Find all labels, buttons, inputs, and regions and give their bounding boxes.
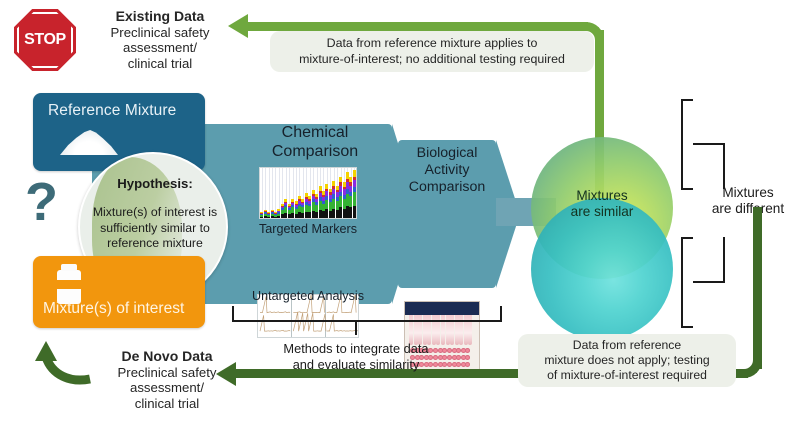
curved-arrow-to-mixture-of-interest [24, 339, 98, 387]
question-mark: ? [25, 175, 58, 229]
chart-gridline [275, 168, 276, 218]
stop-sign-icon: STOP [14, 9, 76, 71]
outcome-similar-line-2: are similar [545, 204, 659, 220]
biological-title-line-3: Comparison [398, 179, 496, 196]
mixture-of-interest-card[interactable]: Mixture(s) of interest [33, 256, 205, 328]
biological-title-line-2: Activity [398, 162, 496, 179]
arrow-head-to-existing-data [228, 14, 248, 38]
chart-gridline [262, 168, 263, 218]
hypothesis-line-3: reference mixture [86, 236, 224, 251]
chemical-title-line-2: Comparison [240, 143, 390, 162]
biological-title-line-1: Biological [398, 145, 496, 162]
bracket-upper-stem-drop [723, 143, 725, 189]
hypothesis-line-2: sufficiently similar to [86, 221, 224, 236]
chart-gridline [269, 168, 270, 218]
targeted-markers-caption: Targeted Markers [236, 222, 380, 236]
callout-mixtures-similar: Data from reference mixture applies to m… [270, 31, 594, 72]
callout-different-line-2: mixture does not apply; testing [544, 353, 709, 368]
existing-data-line-3: clinical trial [80, 56, 240, 72]
biological-comparison-title: Biological Activity Comparison [398, 145, 496, 195]
methods-note-line-2: and evaluate similarity [265, 357, 447, 373]
spectra-trace [260, 315, 290, 331]
chart-bar [353, 170, 356, 218]
existing-data-line-1: Preclinical safety [80, 25, 240, 41]
untargeted-analysis-caption: Untargeted Analysis [232, 289, 384, 303]
callout-similar-line-1: Data from reference mixture applies to [299, 36, 565, 51]
pipe-similar-horizontal [248, 22, 588, 31]
de-novo-data-line-3: clinical trial [92, 396, 242, 412]
de-novo-data-line-2: assessment/ [92, 380, 242, 396]
bracket-lower-stem-rise [723, 237, 725, 283]
pipette-head [405, 302, 479, 315]
callout-mixtures-different: Data from reference mixture does not app… [518, 334, 736, 387]
callout-different-line-1: Data from reference [544, 338, 709, 353]
outcome-different-label: Mixtures are different [700, 185, 796, 218]
de-novo-data-line-1: Preclinical safety [92, 365, 242, 381]
pipe-different-vertical [753, 207, 762, 369]
diagram-canvas: STOP Existing Data Preclinical safety as… [0, 0, 800, 427]
targeted-markers-chart [259, 167, 357, 219]
mixture-of-interest-label: Mixture(s) of interest [43, 300, 184, 318]
methods-bracket-span [232, 320, 502, 322]
methods-bracket-stem [355, 320, 357, 335]
de-novo-data-block: De Novo Data Preclinical safety assessme… [92, 348, 242, 411]
bracket-upper-bottom-tick [681, 188, 693, 190]
bracket-lower-bottom-tick [681, 326, 693, 328]
reference-mixture-label: Reference Mixture [48, 102, 176, 120]
hypothesis-line-1: Mixture(s) of interest is [86, 205, 224, 220]
chart-bar-segment [353, 192, 356, 205]
existing-data-block: Existing Data Preclinical safety assessm… [80, 8, 240, 71]
outcome-different-line-2: are different [700, 201, 796, 217]
outcome-similar-label: Mixtures are similar [545, 188, 659, 221]
powder-heap-icon [60, 129, 118, 155]
stop-sign-label: STOP [24, 31, 66, 49]
methods-note-line-1: Methods to integrate data [265, 341, 447, 357]
methods-note: Methods to integrate data and evaluate s… [265, 341, 447, 373]
microplate-well [465, 348, 470, 353]
chemical-title-line-1: Chemical [240, 124, 390, 143]
bracket-lower-spine [681, 237, 683, 328]
chart-bar-segment [353, 180, 356, 188]
spectra-trace [327, 314, 358, 331]
supplement-bottle-icon [56, 264, 82, 304]
bracket-upper-spine [681, 99, 683, 190]
outcome-similar-line-1: Mixtures [545, 188, 659, 204]
microplate-well [465, 355, 470, 360]
de-novo-data-heading: De Novo Data [92, 348, 242, 365]
callout-different-line-3: of mixture-of-interest required [544, 368, 709, 383]
existing-data-heading: Existing Data [80, 8, 240, 25]
microplate-well [465, 362, 470, 367]
hypothesis-heading: Hypothesis: [86, 176, 224, 192]
chart-bar-segment [353, 170, 356, 177]
existing-data-line-2: assessment/ [80, 40, 240, 56]
methods-bracket-right-tick [500, 306, 502, 322]
callout-similar-line-2: mixture-of-interest; no additional testi… [299, 52, 565, 67]
chemical-comparison-title: Chemical Comparison [240, 124, 390, 161]
outcome-different-line-1: Mixtures [700, 185, 796, 201]
curved-arrow-svg [24, 339, 98, 387]
chart-bar-segment [353, 206, 356, 219]
bracket-lower-stem [693, 281, 725, 283]
bracket-upper-stem [693, 143, 725, 145]
